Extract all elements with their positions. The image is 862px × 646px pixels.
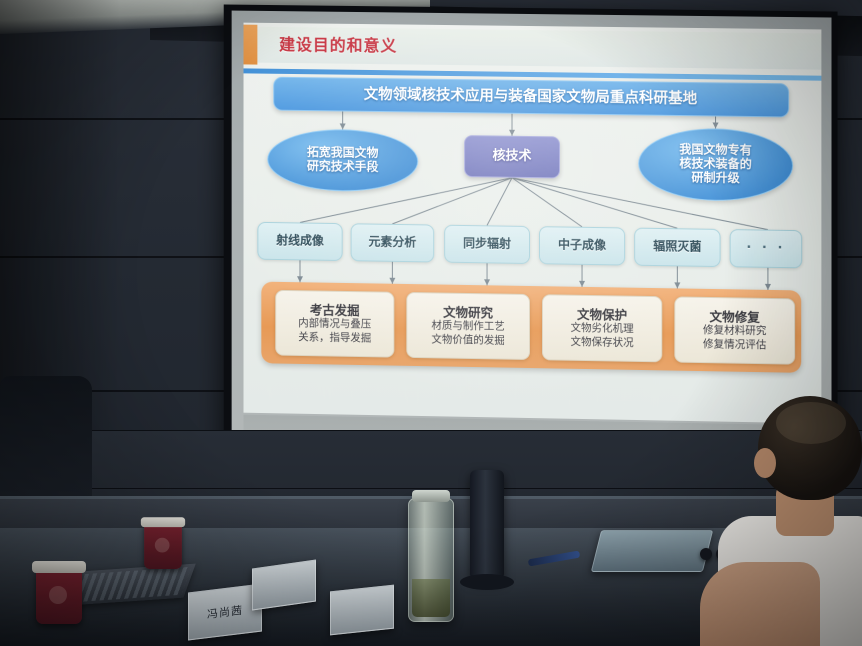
chair-back: [0, 376, 92, 496]
technique-node-4: 中子成像: [539, 226, 625, 265]
placard-name-1: 冯尚茜: [189, 600, 261, 625]
paper-cup-back: [144, 523, 182, 569]
technique-label-4: 中子成像: [558, 239, 606, 254]
name-placard-3: [330, 585, 394, 636]
tea-bottle: [408, 498, 454, 622]
attendee-arm: [700, 562, 820, 646]
goal-center-label: 核技术: [493, 149, 532, 164]
application-line-1b: 关系，指导发掘: [298, 331, 371, 346]
applications-band: 考古发掘 内部情况与叠压 关系，指导发掘 文物研究 材质与制作工艺 文物价值的发…: [261, 282, 801, 373]
conference-room-scene: 建设目的和意义: [0, 0, 862, 646]
conference-microphone: [470, 470, 504, 580]
attendee-hair-highlight: [776, 402, 846, 444]
application-line-4b: 修复情况评估: [703, 337, 766, 352]
technique-label-5: 辐照灭菌: [653, 240, 701, 255]
tablet-device: [591, 530, 713, 572]
application-node-4: 文物修复 修复材料研究 修复情况评估: [674, 296, 795, 364]
name-placard-2: [252, 560, 316, 611]
application-node-2: 文物研究 材质与制作工艺 文物价值的发掘: [406, 292, 530, 360]
cup-lid: [141, 517, 185, 527]
application-node-3: 文物保护 文物劣化机理 文物保存状况: [542, 294, 662, 362]
cup-logo: [155, 538, 170, 553]
application-title-4: 文物修复: [709, 309, 759, 325]
diagram-goal-node-center: 核技术: [464, 135, 560, 178]
application-line-3b: 文物保存状况: [571, 335, 634, 350]
cup-logo: [49, 586, 67, 604]
goal-left-line2: 研究技术手段: [307, 160, 379, 175]
goal-right-line3: 研制升级: [691, 171, 739, 186]
application-title-1: 考古发掘: [310, 302, 360, 318]
technique-node-3: 同步辐射: [444, 225, 530, 264]
technique-node-more: · · ·: [730, 229, 803, 268]
diagram-goal-node-right: 我国文物专有 核技术装备的 研制升级: [638, 127, 793, 201]
root-node-label: 文物领域核技术应用与装备国家文物局重点科研基地: [364, 87, 697, 108]
placard-name-3: [331, 607, 393, 614]
application-title-2: 文物研究: [443, 304, 493, 320]
application-line-3a: 文物劣化机理: [571, 321, 634, 336]
application-line-1a: 内部情况与叠压: [298, 317, 371, 332]
cup-lid: [32, 561, 86, 573]
technique-node-2: 元素分析: [351, 223, 435, 262]
technique-node-1: 射线成像: [257, 222, 342, 261]
attendee-head: [758, 396, 862, 500]
slide-header: 建设目的和意义: [244, 23, 822, 74]
application-line-4a: 修复材料研究: [703, 324, 766, 339]
diagram-root-node: 文物领域核技术应用与装备国家文物局重点科研基地: [273, 77, 789, 118]
presentation-slide: 建设目的和意义: [244, 23, 822, 424]
bottle-tea-leaves: [412, 579, 450, 617]
bottle-cap: [412, 490, 450, 502]
application-line-2a: 材质与制作工艺: [431, 319, 504, 334]
small-object-1: [700, 548, 712, 560]
microphone-base: [460, 574, 514, 590]
technique-label-more: · · ·: [746, 241, 785, 257]
diagram-goal-node-left: 拓宽我国文物 研究技术手段: [267, 128, 418, 192]
seated-attendee: [718, 396, 862, 646]
placard-name-2: [253, 581, 315, 590]
slide-title: 建设目的和意义: [279, 31, 397, 56]
application-line-2b: 文物价值的发掘: [431, 333, 504, 348]
application-title-3: 文物保护: [577, 306, 627, 322]
technique-node-5: 辐照灭菌: [634, 228, 720, 267]
slide-diagram: 文物领域核技术应用与装备国家文物局重点科研基地 拓宽我国文物 研究技术手段 核技…: [244, 70, 822, 419]
technique-label-3: 同步辐射: [463, 237, 511, 252]
slide-header-accent-bar: [244, 25, 258, 65]
paper-cup-front: [36, 568, 82, 624]
technique-label-1: 射线成像: [276, 234, 324, 248]
technique-label-2: 元素分析: [368, 236, 416, 251]
application-node-1: 考古发掘 内部情况与叠压 关系，指导发掘: [275, 290, 394, 358]
name-placard-1: 冯尚茜: [188, 583, 262, 640]
attendee-ear: [754, 448, 776, 478]
